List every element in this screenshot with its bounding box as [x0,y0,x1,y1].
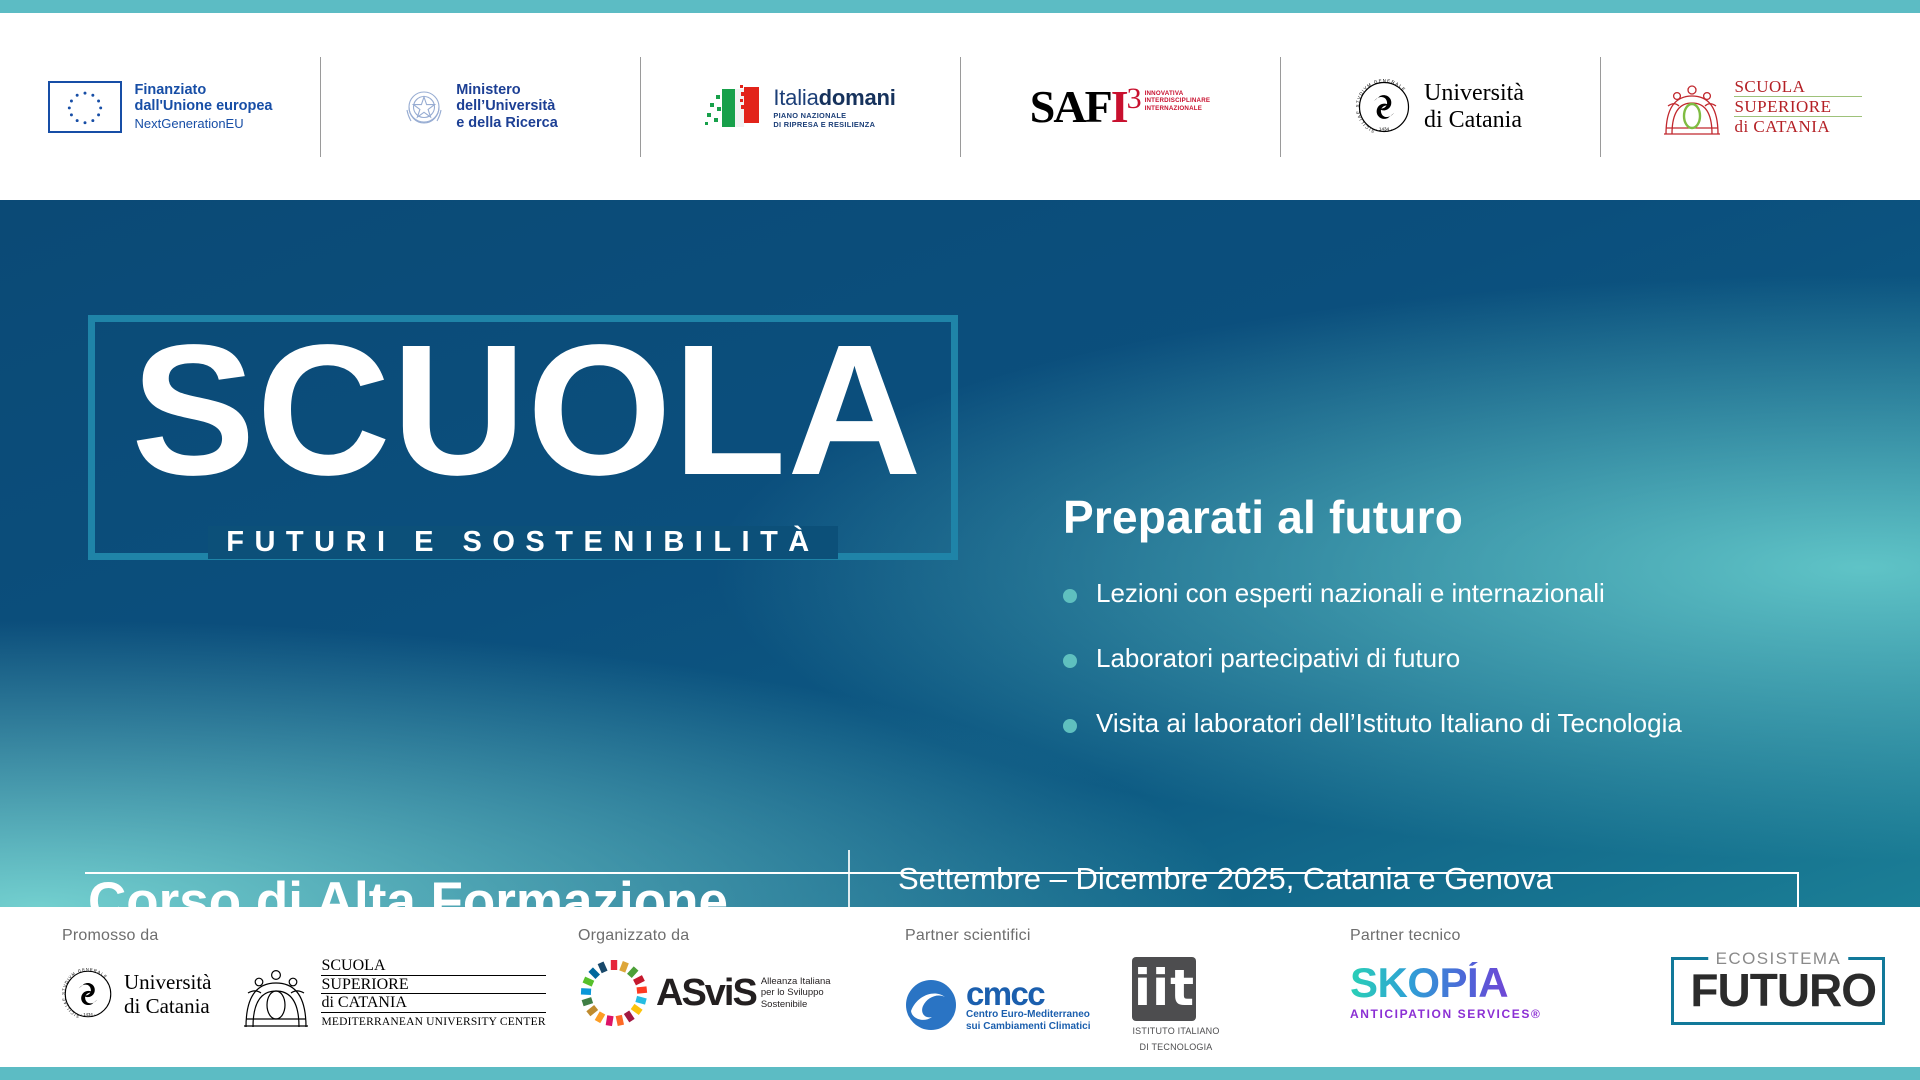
header-logo-strip: Finanziato dall'Unione europea NextGener… [0,13,1920,200]
bullet-dot-icon [1063,589,1077,603]
eu-flag-icon [48,81,122,133]
footer-ssc-line-2: SUPERIORE [321,976,545,995]
top-accent-bar [0,0,1920,13]
bullet-text: Laboratori partecipativi di futuro [1096,643,1460,673]
list-item: Lezioni con esperti nazionali e internaz… [1063,578,1883,609]
hero-bullet-list: Lezioni con esperti nazionali e internaz… [1063,578,1883,739]
footer-group-scientifici: Partner scientifici cmcc Centro Euro-Med… [905,927,1220,1053]
safi3-tag-3: INTERNAZIONALE [1145,105,1211,113]
hero-copy-column: Preparati al futuro Lezioni con esperti … [1063,490,1883,739]
italia-domani-sub-1: PIANO NAZIONALE [773,111,895,120]
cmcc-wave-icon [905,979,957,1031]
footer-logo-scuola-superiore: SCUOLA SUPERIORE di CATANIA MEDITERRANEA… [237,957,545,1031]
list-item: Visita ai laboratori dell’Istituto Itali… [1063,708,1883,739]
footer-group-organizzato: Organizzato da [578,927,831,1029]
futuro-wordmark: FUTURO [1690,966,1866,1014]
svg-text:· 1434 ·: · 1434 · [1376,126,1392,131]
logo-scuola-superiore-di-catania: SCUOLA SUPERIORE di CATANIA [1600,57,1920,157]
footer-logo-universita-di-catania: SICILIAE STVDIVM GENERALE · 1434 · Unive… [62,968,211,1020]
safi3-letter-i: I [1111,81,1127,132]
unict-seal-icon: SICILIAE STVDIVM GENERALE · 1434 · [62,968,114,1020]
italia-domani-word-b: domani [819,85,896,110]
cmcc-tag-1: Centro Euro-Mediterraneo [966,1009,1090,1021]
footer-group-tecnico: Partner tecnico SKOPÍA ANTICIPATION SERV… [1350,927,1885,1025]
eu-line-2: dall'Unione europea [135,98,273,115]
asvis-tag-1: Alleanza Italiana [761,976,831,988]
safi3-word: SAF [1030,81,1111,132]
poster-page: Finanziato dall'Unione europea NextGener… [0,0,1920,1080]
asvis-sdg-ring-icon [578,957,650,1029]
footer-logo-cmcc: cmcc Centro Euro-Mediterraneo sui Cambia… [905,978,1090,1033]
ssc-line-3: di CATANIA [1734,117,1861,136]
footer-label-tecnico: Partner tecnico [1350,927,1885,945]
bullet-text: Visita ai laboratori dell’Istituto Itali… [1096,708,1682,738]
footer-logo-skopia: SKOPÍA ANTICIPATION SERVICES® [1350,962,1541,1021]
footer-ssc-line-4: MEDITERRANEAN UNIVERSITY CENTER [321,1014,545,1032]
bullet-text: Lezioni con esperti nazionali e internaz… [1096,578,1605,608]
footer-logo-asvis: ASviS Alleanza Italiana per lo Sviluppo … [578,957,831,1029]
cmcc-tag-2: sui Cambiamenti Climatici [966,1021,1090,1033]
hero-banner: SCUOLA FUTURI E SOSTENIBILITÀ Preparati … [0,200,1920,907]
logo-eu-next-generation: Finanziato dall'Unione europea NextGener… [0,57,320,157]
footer-ssc-line-1: SCUOLA [321,957,545,976]
scuola-superiore-seal-icon [237,959,315,1031]
footer-label-promosso: Promosso da [62,927,546,945]
ssc-line-2: SUPERIORE [1734,97,1861,117]
italia-domani-sub-2: DI RIPRESA E RESILIENZA [773,120,895,129]
footer-ssc-line-3: di CATANIA [321,994,545,1013]
svg-text:· 1434 ·: · 1434 · [81,1012,96,1017]
republic-emblem-icon [402,84,446,130]
iit-tag-2: DI TECNOLOGIA [1132,1042,1219,1053]
scuola-superiore-seal-icon [1658,76,1726,138]
skopia-tagline: ANTICIPATION SERVICES® [1350,1007,1541,1021]
mur-line-3: e della Ricerca [456,115,558,132]
mur-line-2: dell’Università [456,98,558,115]
bottom-accent-bar [0,1067,1920,1080]
logo-ministero-universita-ricerca: Ministero dell’Università e della Ricerc… [320,57,640,157]
safi3-superscript: 3 [1127,84,1142,114]
scuola-subtitle-wrap: FUTURI E SOSTENIBILITÀ [88,526,958,559]
iit-tag-1: ISTITUTO ITALIANO [1132,1026,1219,1037]
footer-label-organizzato: Organizzato da [578,927,831,945]
footer-partners: Promosso da SICILIAE STVDIVM GENERALE · … [0,907,1920,1067]
eu-line-3: NextGenerationEU [135,115,273,132]
unict-seal-icon: SICILIAE STVDIVM GENERALE · 1434 · [1356,79,1412,135]
list-item: Laboratori partecipativi di futuro [1063,643,1883,674]
cmcc-wordmark: cmcc [966,978,1090,1009]
decorative-frame-line [85,872,1799,907]
logo-italia-domani: Italiadomani PIANO NAZIONALE DI RIPRESA … [640,57,960,157]
footer-label-scientifici: Partner scientifici [905,927,1220,945]
italia-domani-word-a: Italia [773,85,818,110]
hero-heading: Preparati al futuro [1063,490,1883,544]
scuola-wordmark: SCUOLA [122,318,932,504]
asvis-tag-3: Sostenibile [761,999,831,1011]
footer-logo-ecosistema-futuro: ECOSISTEMA FUTURO [1671,957,1885,1025]
unict-line-1: Università [1424,80,1524,107]
safi3-wordmark: SAFI [1030,84,1127,130]
bullet-dot-icon [1063,654,1077,668]
eu-line-1: Finanziato [135,82,273,99]
ssc-line-1: SCUOLA [1734,77,1861,97]
footer-unict-line-1: Università [124,970,211,994]
asvis-wordmark: ASviS [656,974,756,1012]
footer-group-promosso: Promosso da SICILIAE STVDIVM GENERALE · … [62,927,546,1031]
skopia-wordmark: SKOPÍA [1350,962,1541,1004]
scuola-subtitle: FUTURI E SOSTENIBILITÀ [208,526,838,559]
mur-line-1: Ministero [456,82,558,99]
asvis-tag-2: per lo Sviluppo [761,987,831,999]
footer-logo-iit: iit ISTITUTO ITALIANO DI TECNOLOGIA [1132,957,1219,1053]
safi3-tag-2: INTERDISCIPLINARE [1145,97,1211,105]
footer-unict-line-2: di Catania [124,994,211,1018]
ecosistema-label: ECOSISTEMA [1709,949,1848,969]
logo-universita-di-catania: SICILIAE STVDIVM GENERALE · 1434 · Unive… [1280,57,1600,157]
logo-safi3: SAFI 3 INNOVATIVA INTERDISCIPLINARE INTE… [960,57,1280,157]
safi3-tag-1: INNOVATIVA [1145,90,1211,98]
unict-line-2: di Catania [1424,107,1524,134]
iit-wordmark: iit [1132,957,1196,1021]
italia-domani-flag-icon [704,83,766,131]
bullet-dot-icon [1063,719,1077,733]
